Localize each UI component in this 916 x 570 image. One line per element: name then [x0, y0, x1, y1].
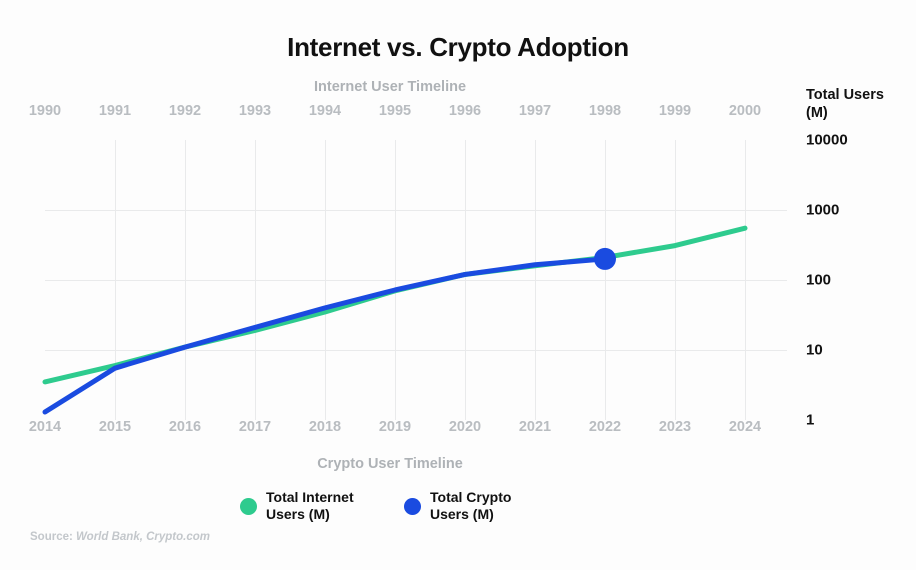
bottom-axis-tick-row: 2014201520162017201820192020202120222023…	[0, 419, 916, 439]
source-reference: World Bank, Crypto.com	[76, 531, 210, 543]
axis-tick-label: 2014	[29, 419, 61, 435]
axis-tick-label: 2020	[449, 419, 481, 435]
axis-tick-label: 2016	[169, 419, 201, 435]
axis-tick-label: 2024	[729, 419, 761, 435]
axis-tick-label: 1994	[309, 103, 341, 119]
axis-tick-label: 2019	[379, 419, 411, 435]
y-axis-title-line1: Total Users	[806, 86, 916, 104]
plot-area	[45, 140, 787, 420]
bottom-axis-title: Crypto User Timeline	[0, 456, 780, 472]
axis-tick-label: 1995	[379, 103, 411, 119]
axis-tick-label: 1998	[589, 103, 621, 119]
axis-tick-label: 1993	[239, 103, 271, 119]
axis-tick-label: 1990	[29, 103, 61, 119]
top-axis-title: Internet User Timeline	[0, 79, 780, 95]
axis-tick-label: 2015	[99, 419, 131, 435]
axis-tick-label: 2000	[729, 103, 761, 119]
legend-swatch-icon	[404, 498, 421, 515]
y-axis-tick-label: 10	[806, 342, 823, 359]
legend-swatch-icon	[240, 498, 257, 515]
chart-page: Internet vs. Crypto Adoption Internet Us…	[0, 0, 916, 570]
legend: Total Internet Users (M)Total Crypto Use…	[0, 489, 780, 523]
axis-tick-label: 1991	[99, 103, 131, 119]
source-note: Source: World Bank, Crypto.com	[30, 531, 210, 543]
legend-item[interactable]: Total Internet Users (M)	[240, 489, 376, 523]
axis-tick-label: 2022	[589, 419, 621, 435]
axis-tick-label: 1999	[659, 103, 691, 119]
y-axis-title: Total Users (M)	[806, 86, 916, 122]
series-end-marker	[594, 248, 616, 270]
axis-tick-label: 2017	[239, 419, 271, 435]
axis-tick-label: 1992	[169, 103, 201, 119]
page-title: Internet vs. Crypto Adoption	[0, 32, 916, 63]
legend-item[interactable]: Total Crypto Users (M)	[404, 489, 540, 523]
y-axis-tick-label: 1	[806, 412, 814, 429]
y-axis-tick-label: 100	[806, 272, 831, 289]
y-axis-title-line2: (M)	[806, 104, 916, 122]
legend-item-label: Total Internet Users (M)	[266, 489, 376, 523]
source-prefix: Source:	[30, 531, 73, 543]
top-axis-tick-row: 1990199119921993199419951996199719981999…	[0, 103, 916, 123]
axis-tick-label: 2023	[659, 419, 691, 435]
y-axis-tick-label: 1000	[806, 202, 839, 219]
axis-tick-label: 2018	[309, 419, 341, 435]
axis-tick-label: 1996	[449, 103, 481, 119]
series-line	[45, 259, 605, 412]
legend-item-label: Total Crypto Users (M)	[430, 489, 540, 523]
axis-tick-label: 2021	[519, 419, 551, 435]
y-axis-tick-label: 10000	[806, 132, 848, 149]
series-layer	[45, 140, 787, 420]
axis-tick-label: 1997	[519, 103, 551, 119]
